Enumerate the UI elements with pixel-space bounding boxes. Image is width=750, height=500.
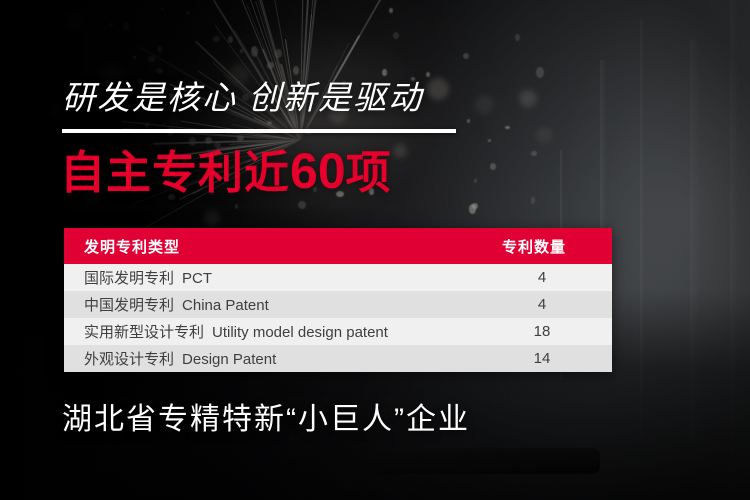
patent-type-cn: 中国发明专利 [84,297,174,314]
table-cell-type: 实用新型设计专利Utility model design patent [64,321,482,342]
headline-main-prefix: 自主专利近 [60,147,290,198]
patent-count: 18 [482,323,612,340]
patent-count: 14 [482,350,612,367]
headline-main-suffix: 项 [346,147,392,198]
table-row: 实用新型设计专利Utility model design patent18 [64,318,612,345]
patent-type-en: China Patent [182,297,269,314]
table-row: 外观设计专利Design Patent14 [64,345,612,372]
patent-type-en: Utility model design patent [212,324,388,341]
table-body: 国际发明专利PCT4中国发明专利China Patent4实用新型设计专利Uti… [64,264,612,372]
table-header-count: 专利数量 [474,236,612,257]
promo-poster: 研发是核心 创新是驱动 自主专利近60项 发明专利类型 专利数量 国际发明专利P… [0,0,750,500]
table-cell-type: 外观设计专利Design Patent [64,348,482,369]
table-cell-type: 中国发明专利China Patent [64,294,482,315]
patent-type-cn: 国际发明专利 [84,270,174,287]
table-row: 中国发明专利China Patent4 [64,291,612,318]
patent-type-cn: 实用新型设计专利 [84,324,204,341]
headline-main: 自主专利近60项 [60,143,392,201]
footer-caption: 湖北省专精特新“小巨人”企业 [62,400,470,440]
table-row: 国际发明专利PCT4 [64,264,612,291]
patent-count: 4 [482,269,612,286]
headline-divider [62,129,456,133]
patent-count: 4 [482,296,612,313]
table-header-type: 发明专利类型 [64,236,474,257]
headline-tagline: 研发是核心 创新是驱动 [62,78,423,118]
patent-type-en: PCT [182,270,212,287]
table-cell-type: 国际发明专利PCT [64,267,482,288]
patent-type-cn: 外观设计专利 [84,351,174,368]
patent-table: 发明专利类型 专利数量 国际发明专利PCT4中国发明专利China Patent… [64,228,612,372]
headline-main-number: 60 [290,143,346,199]
patent-type-en: Design Patent [182,351,276,368]
table-header-row: 发明专利类型 专利数量 [64,228,612,264]
